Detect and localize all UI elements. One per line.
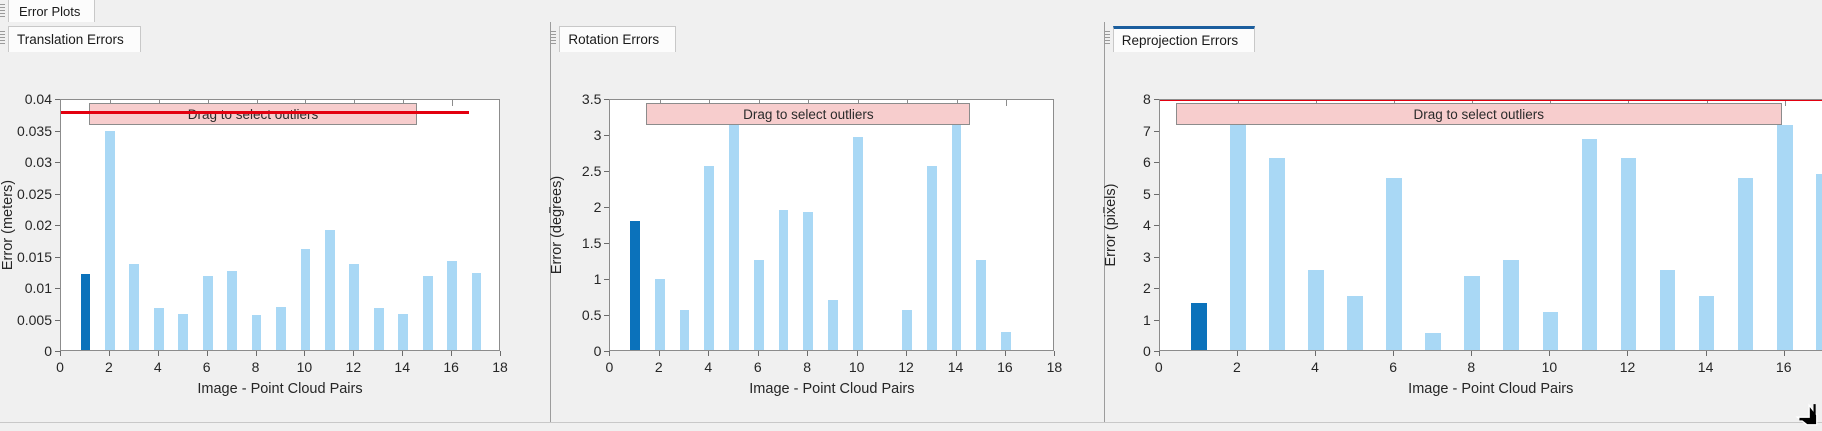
bar[interactable]	[374, 308, 384, 350]
panel-rotation-errors: Rotation Errors Error (degrees)00.511.52…	[551, 22, 1103, 422]
bar[interactable]	[976, 260, 986, 350]
x-tick-label: 8	[803, 359, 811, 375]
drag-grip-icon[interactable]	[0, 4, 5, 17]
tab-reprojection-errors-label: Reprojection Errors	[1122, 33, 1238, 48]
x-tick-mark	[1706, 351, 1707, 356]
y-tick-label: 1	[1107, 312, 1151, 328]
x-tick-mark	[500, 351, 501, 356]
panel-3-tab-strip: Reprojection Errors	[1105, 22, 1822, 48]
plot-panels-container: Translation Errors Error (meters)00.0050…	[0, 22, 1822, 422]
outlier-threshold-line[interactable]	[1160, 99, 1822, 101]
y-tick-label: 2	[1107, 280, 1151, 296]
bar[interactable]	[178, 314, 188, 350]
chart-reprojection-errors: Error (pixels)012345678Drag to select ou…	[1105, 52, 1822, 422]
tab-rotation-errors[interactable]: Rotation Errors	[559, 26, 676, 52]
y-tick-label: 0.03	[2, 154, 52, 170]
x-tick-label: 12	[898, 359, 914, 375]
bar[interactable]	[398, 314, 408, 350]
outlier-drag-band-label: Drag to select outliers	[188, 107, 319, 122]
x-tick-mark	[609, 351, 610, 356]
x-tick-label: 8	[252, 359, 260, 375]
x-tick-mark	[304, 351, 305, 356]
x-tick-label: 6	[203, 359, 211, 375]
tab-error-plots[interactable]: Error Plots	[8, 0, 95, 22]
y-tick-label: 2	[553, 199, 601, 215]
x-tick-mark	[109, 351, 110, 356]
y-tick-label: 0.015	[2, 249, 52, 265]
bar[interactable]	[325, 230, 335, 350]
panel-1-tab-strip: Translation Errors	[0, 22, 550, 48]
x-tick-label: 14	[948, 359, 964, 375]
x-tick-label: 6	[754, 359, 762, 375]
outlier-drag-band-label: Drag to select outliers	[743, 107, 874, 122]
y-tick-label: 5	[1107, 186, 1151, 202]
y-tick-label: 0.04	[2, 91, 52, 107]
plot-axes: Drag to select outliers	[60, 99, 500, 351]
bar[interactable]	[927, 166, 937, 350]
x-tick-label: 0	[605, 359, 613, 375]
y-tick-label: 3	[553, 127, 601, 143]
x-tick-label: 4	[154, 359, 162, 375]
bar[interactable]	[472, 273, 482, 350]
x-tick-mark	[1471, 351, 1472, 356]
bar[interactable]	[227, 271, 237, 350]
outlier-threshold-line[interactable]	[610, 99, 1022, 100]
x-tick-label: 0	[1155, 359, 1163, 375]
x-tick-label: 4	[1311, 359, 1319, 375]
bar[interactable]	[301, 249, 311, 350]
x-axis-label: Image - Point Cloud Pairs	[609, 381, 1054, 397]
bar[interactable]	[1001, 332, 1011, 350]
y-tick-label: 0.035	[2, 123, 52, 139]
bar[interactable]	[276, 307, 286, 350]
bar[interactable]	[1230, 118, 1246, 350]
y-tick-label: 0	[1107, 343, 1151, 359]
bar[interactable]	[704, 166, 714, 350]
bar[interactable]	[754, 260, 764, 350]
x-tick-mark	[659, 351, 660, 356]
bar[interactable]	[1425, 333, 1441, 350]
bar[interactable]	[1699, 296, 1715, 350]
x-tick-label: 4	[704, 359, 712, 375]
tab-reprojection-errors[interactable]: Reprojection Errors	[1113, 26, 1255, 52]
x-tick-label: 6	[1389, 359, 1397, 375]
bar[interactable]	[1660, 270, 1676, 350]
y-tick-label: 8	[1107, 91, 1151, 107]
x-tick-mark	[1549, 351, 1550, 356]
bar[interactable]	[952, 117, 962, 350]
x-tick-label: 2	[655, 359, 663, 375]
y-tick-label: 2.5	[553, 163, 601, 179]
y-tick-label: 4	[1107, 217, 1151, 233]
tab-translation-errors-label: Translation Errors	[17, 32, 124, 47]
y-tick-label: 1	[553, 271, 601, 287]
tab-translation-errors[interactable]: Translation Errors	[8, 26, 141, 52]
y-tick-label: 0.005	[2, 312, 52, 328]
x-tick-mark	[1237, 351, 1238, 356]
x-tick-label: 0	[56, 359, 64, 375]
bar[interactable]	[779, 210, 789, 350]
x-axis-label: Image - Point Cloud Pairs	[60, 381, 500, 397]
x-tick-label: 14	[394, 359, 410, 375]
bar[interactable]	[729, 117, 739, 350]
bar[interactable]	[1543, 312, 1559, 350]
bar[interactable]	[828, 300, 838, 350]
bar[interactable]	[81, 274, 91, 350]
bar[interactable]	[105, 131, 115, 350]
bar[interactable]	[1191, 303, 1207, 350]
bar[interactable]	[447, 261, 457, 350]
drag-grip-icon[interactable]	[0, 31, 5, 44]
error-plots-window: Error Plots Translation Errors Error (me…	[0, 0, 1822, 430]
bar[interactable]	[1347, 296, 1363, 350]
y-tick-label: 3	[1107, 249, 1151, 265]
x-tick-mark	[60, 351, 61, 356]
x-tick-label: 10	[1542, 359, 1558, 375]
tab-error-plots-label: Error Plots	[19, 4, 80, 19]
bar[interactable]	[1503, 260, 1519, 350]
x-tick-mark	[353, 351, 354, 356]
bar[interactable]	[423, 276, 433, 350]
bar[interactable]	[853, 137, 863, 350]
bar[interactable]	[1308, 270, 1324, 350]
x-tick-mark	[807, 351, 808, 356]
y-tick-label: 1.5	[553, 235, 601, 251]
x-tick-mark	[402, 351, 403, 356]
bar[interactable]	[803, 212, 813, 350]
x-tick-mark	[158, 351, 159, 356]
x-tick-mark	[1159, 351, 1160, 356]
outlier-drag-band[interactable]: Drag to select outliers	[646, 103, 970, 125]
x-tick-mark	[1054, 351, 1055, 356]
panel-reprojection-errors: Reprojection Errors Error (pixels)012345…	[1105, 22, 1822, 422]
x-tick-label: 12	[346, 359, 362, 375]
x-tick-label: 8	[1467, 359, 1475, 375]
bar[interactable]	[1738, 178, 1754, 350]
x-tick-label: 12	[1620, 359, 1636, 375]
x-tick-mark	[1393, 351, 1394, 356]
bar[interactable]	[129, 264, 139, 350]
x-top-tick-mark	[1006, 100, 1007, 106]
y-tick-label: 6	[1107, 154, 1151, 170]
x-axis-label: Image - Point Cloud Pairs	[1159, 381, 1822, 397]
y-tick-label: 7	[1107, 123, 1151, 139]
drag-grip-icon[interactable]	[1105, 31, 1110, 44]
y-axis-label: Error (degrees)	[549, 176, 565, 274]
y-tick-label: 0	[2, 343, 52, 359]
x-tick-mark	[1315, 351, 1316, 356]
x-tick-label: 2	[105, 359, 113, 375]
y-tick-label: 0.5	[553, 307, 601, 323]
x-tick-label: 2	[1233, 359, 1241, 375]
bar[interactable]	[203, 276, 213, 350]
panel-translation-errors: Translation Errors Error (meters)00.0050…	[0, 22, 550, 422]
bar[interactable]	[349, 264, 359, 350]
y-tick-label: 0.01	[2, 280, 52, 296]
bar[interactable]	[630, 221, 640, 350]
bar[interactable]	[252, 315, 262, 350]
x-tick-label: 16	[997, 359, 1013, 375]
bar[interactable]	[1386, 178, 1402, 350]
bar[interactable]	[1816, 174, 1822, 350]
bar[interactable]	[680, 310, 690, 350]
outer-tab-strip: Error Plots	[0, 0, 1822, 22]
bar[interactable]	[1464, 276, 1480, 350]
x-tick-mark	[207, 351, 208, 356]
x-tick-mark	[758, 351, 759, 356]
x-tick-label: 18	[1047, 359, 1063, 375]
bar[interactable]	[1777, 125, 1793, 350]
x-top-tick-mark	[452, 100, 453, 106]
x-tick-mark	[1627, 351, 1628, 356]
bar[interactable]	[1621, 158, 1637, 350]
x-tick-mark	[256, 351, 257, 356]
x-tick-mark	[1784, 351, 1785, 356]
y-tick-label: 0	[553, 343, 601, 359]
plot-axes: Drag to select outliers	[1159, 99, 1822, 351]
plot-axes: Drag to select outliers	[609, 99, 1054, 351]
x-tick-label: 16	[443, 359, 459, 375]
x-tick-label: 18	[492, 359, 508, 375]
x-tick-mark	[956, 351, 957, 356]
x-tick-mark	[1005, 351, 1006, 356]
x-tick-mark	[451, 351, 452, 356]
x-tick-mark	[906, 351, 907, 356]
x-tick-label: 10	[849, 359, 865, 375]
bar[interactable]	[154, 308, 164, 350]
resize-corner-cursor	[1794, 402, 1820, 428]
panel-2-tab-strip: Rotation Errors	[551, 22, 1103, 48]
x-tick-mark	[857, 351, 858, 356]
outlier-drag-band[interactable]: Drag to select outliers	[89, 103, 417, 125]
chart-rotation-errors: Error (degrees)00.511.522.533.5Drag to s…	[551, 52, 1103, 422]
x-tick-mark	[708, 351, 709, 356]
y-tick-label: 3.5	[553, 91, 601, 107]
drag-grip-icon[interactable]	[551, 31, 556, 44]
outlier-drag-band-label: Drag to select outliers	[1414, 107, 1545, 122]
outlier-drag-band[interactable]: Drag to select outliers	[1176, 103, 1782, 125]
outlier-threshold-line[interactable]	[61, 111, 469, 114]
x-tick-label: 16	[1776, 359, 1792, 375]
bar[interactable]	[1582, 139, 1598, 350]
tab-rotation-errors-label: Rotation Errors	[568, 32, 659, 47]
bar[interactable]	[902, 310, 912, 350]
x-tick-label: 10	[297, 359, 313, 375]
bar[interactable]	[1269, 158, 1285, 350]
y-tick-label: 0.025	[2, 186, 52, 202]
chart-translation-errors: Error (meters)00.0050.010.0150.020.0250.…	[0, 52, 550, 422]
x-tick-label: 14	[1698, 359, 1714, 375]
y-tick-label: 0.02	[2, 217, 52, 233]
bar[interactable]	[655, 279, 665, 350]
